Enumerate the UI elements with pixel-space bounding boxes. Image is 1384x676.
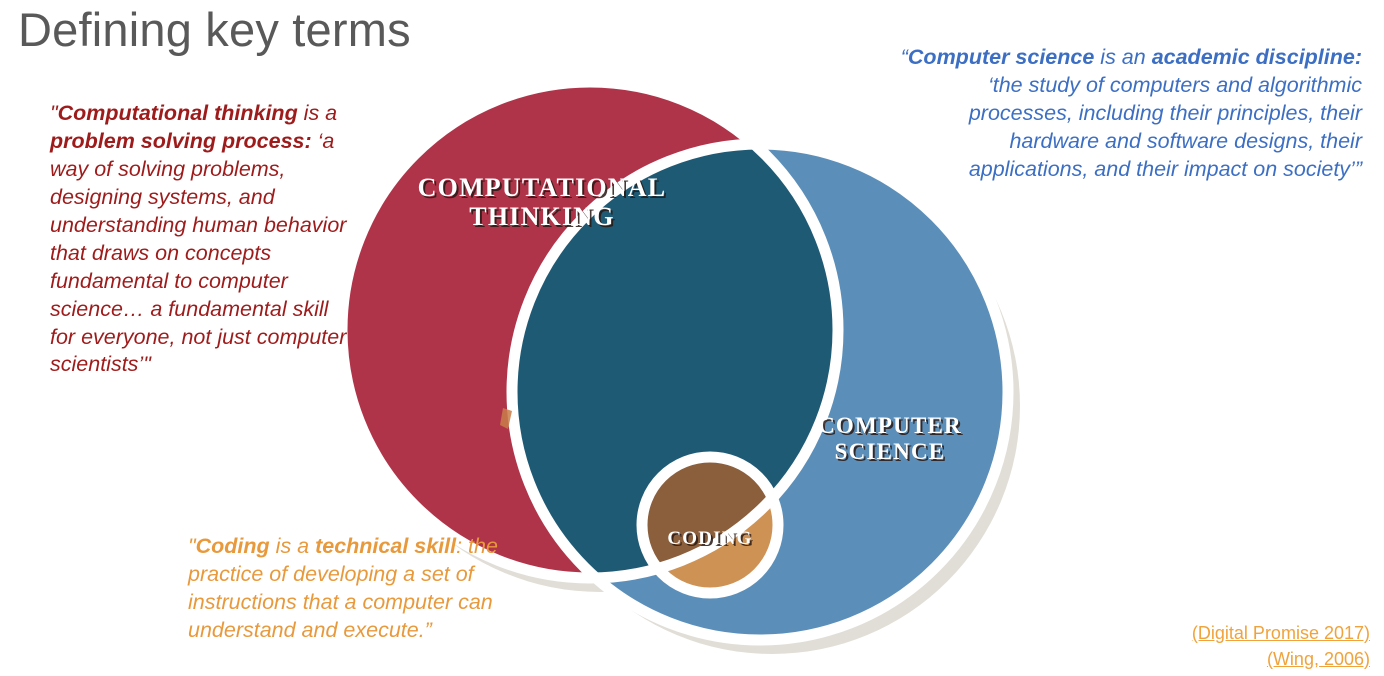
quote-ct-body: ‘a way of solving problems, designing sy… <box>50 129 346 377</box>
citation-link-wing[interactable]: (Wing, 2006) <box>1192 646 1370 672</box>
quote-cd-term: Coding <box>196 534 270 558</box>
quote-cd-connector: is a <box>270 534 315 558</box>
quote-cs-connector: is an <box>1094 45 1151 69</box>
quote-ct-open-mark: " <box>50 101 58 125</box>
slide-canvas: Defining key terms <box>0 0 1384 676</box>
quote-cd-term-two: technical skill <box>315 534 456 558</box>
quote-cs-body: ‘the study of computers and algorithmic … <box>969 73 1362 181</box>
quote-ct-term: Computational thinking <box>58 101 298 125</box>
quote-cs-term: Computer science <box>908 45 1094 69</box>
citation-list: (Digital Promise 2017) (Wing, 2006) <box>1192 620 1370 672</box>
quote-cd-open-mark: " <box>188 534 196 558</box>
quote-computational-thinking: "Computational thinking is a problem sol… <box>50 100 350 379</box>
quote-cs-open-mark: “ <box>901 45 908 69</box>
quote-ct-connector: is a <box>298 101 337 125</box>
quote-ct-term-two: problem solving process: <box>50 129 312 153</box>
quote-cs-term-two: academic discipline: <box>1152 45 1362 69</box>
quote-coding: "Coding is a technical skill: the practi… <box>188 533 563 645</box>
quote-computer-science: “Computer science is an academic discipl… <box>892 44 1362 184</box>
citation-link-digital-promise[interactable]: (Digital Promise 2017) <box>1192 620 1370 646</box>
